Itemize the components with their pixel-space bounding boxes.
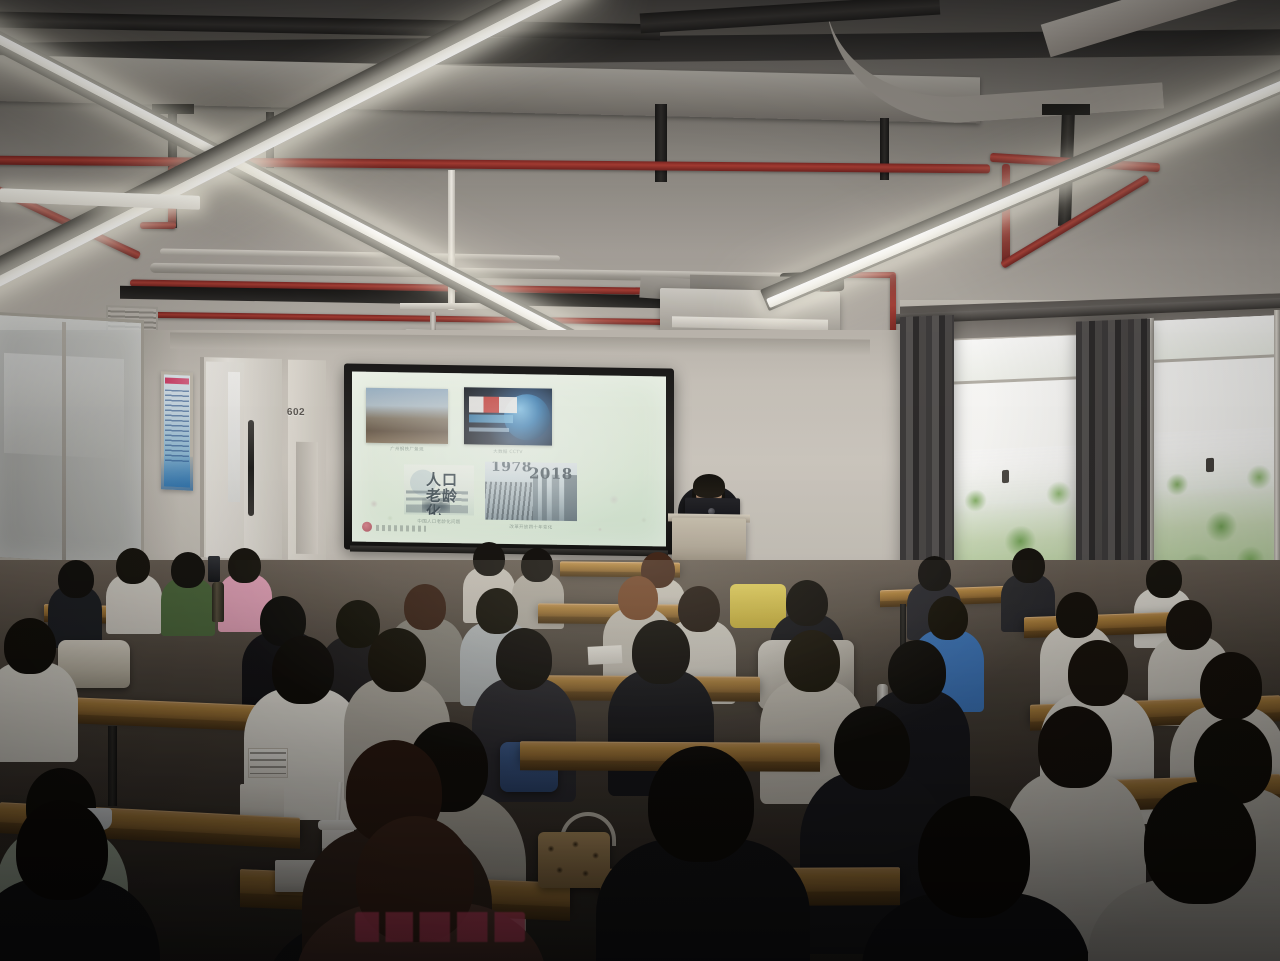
whiteboard-screen[interactable]: 广州钢铁厂景观 大数据 CCTV 人口老龄化 中国人口老龄化问题 1978 20… — [352, 372, 666, 547]
big-data-subtitle-block — [469, 414, 513, 423]
presenter-hair — [693, 474, 725, 498]
bottle-dark — [212, 582, 224, 622]
student-head — [116, 548, 150, 584]
student-head — [918, 796, 1030, 918]
door-vision-panel — [228, 372, 240, 502]
student-head — [496, 628, 552, 690]
student-head — [648, 746, 754, 862]
slide-decorative-dots — [352, 482, 666, 547]
hoodie-pink-lettering — [355, 912, 525, 942]
student-head — [1068, 640, 1128, 706]
big-data-caption-block — [469, 427, 509, 432]
yellow-bag — [730, 584, 786, 628]
slide-caption-2: 大数据 CCTV — [464, 448, 552, 455]
student-head — [632, 620, 690, 684]
student-head — [1012, 548, 1045, 583]
leopard-print-handbag — [538, 832, 610, 888]
student-head — [678, 586, 720, 632]
window-latch-2[interactable] — [1206, 458, 1214, 472]
student-head — [476, 588, 518, 634]
mobile-phone[interactable] — [208, 556, 220, 582]
hoodie-patch-text — [250, 752, 286, 774]
slide-emblem-icon — [362, 522, 372, 532]
student-head — [4, 618, 56, 674]
window-transom-left — [948, 335, 1080, 385]
student-head — [834, 706, 910, 790]
student-head — [1056, 592, 1098, 638]
student-body — [0, 662, 78, 762]
student-head — [918, 556, 951, 591]
student-head — [1038, 706, 1112, 788]
student-head — [473, 542, 505, 576]
student-head — [786, 580, 828, 626]
student-head — [1144, 782, 1256, 904]
student-head — [16, 800, 108, 900]
glass-mullion — [62, 322, 66, 560]
desk-leg-row3-a — [108, 726, 117, 806]
student-head — [1146, 560, 1182, 598]
paper-sheet — [588, 645, 623, 665]
poster-text-lines — [165, 389, 189, 464]
student-head — [171, 552, 205, 588]
student-head — [784, 630, 840, 692]
wall-recess — [296, 442, 318, 554]
student-head — [368, 628, 426, 692]
student-head — [1166, 600, 1212, 650]
reform-year-to: 2018 — [529, 464, 573, 483]
student-head — [521, 548, 553, 582]
slide-emblem-text — [376, 525, 426, 532]
classroom-photo: 602 广州钢铁厂景观 大数据 CCTV 人口老龄化 中国人口老龄化问题 197… — [0, 0, 1280, 961]
room-number-plate: 602 — [281, 405, 311, 422]
door-handle[interactable] — [248, 420, 254, 516]
slide-image-industrial-plant — [366, 388, 448, 444]
slide-image-big-data-era — [464, 387, 552, 445]
poster-graphic — [161, 455, 193, 490]
student-head — [618, 576, 658, 620]
window-transom-right — [1150, 315, 1280, 363]
student-head — [272, 636, 334, 704]
reform-year-from: 1978 — [491, 462, 532, 476]
poster-title-bar — [165, 377, 189, 384]
student-head — [58, 560, 94, 598]
slide-caption-1: 广州钢铁厂景观 — [366, 446, 448, 453]
big-data-title-block — [469, 396, 517, 413]
student-head — [228, 548, 261, 583]
student-head — [404, 584, 446, 630]
window-latch-1[interactable] — [1002, 470, 1009, 483]
student-head — [888, 640, 946, 704]
student-head — [928, 596, 968, 640]
student-head — [1200, 652, 1262, 720]
